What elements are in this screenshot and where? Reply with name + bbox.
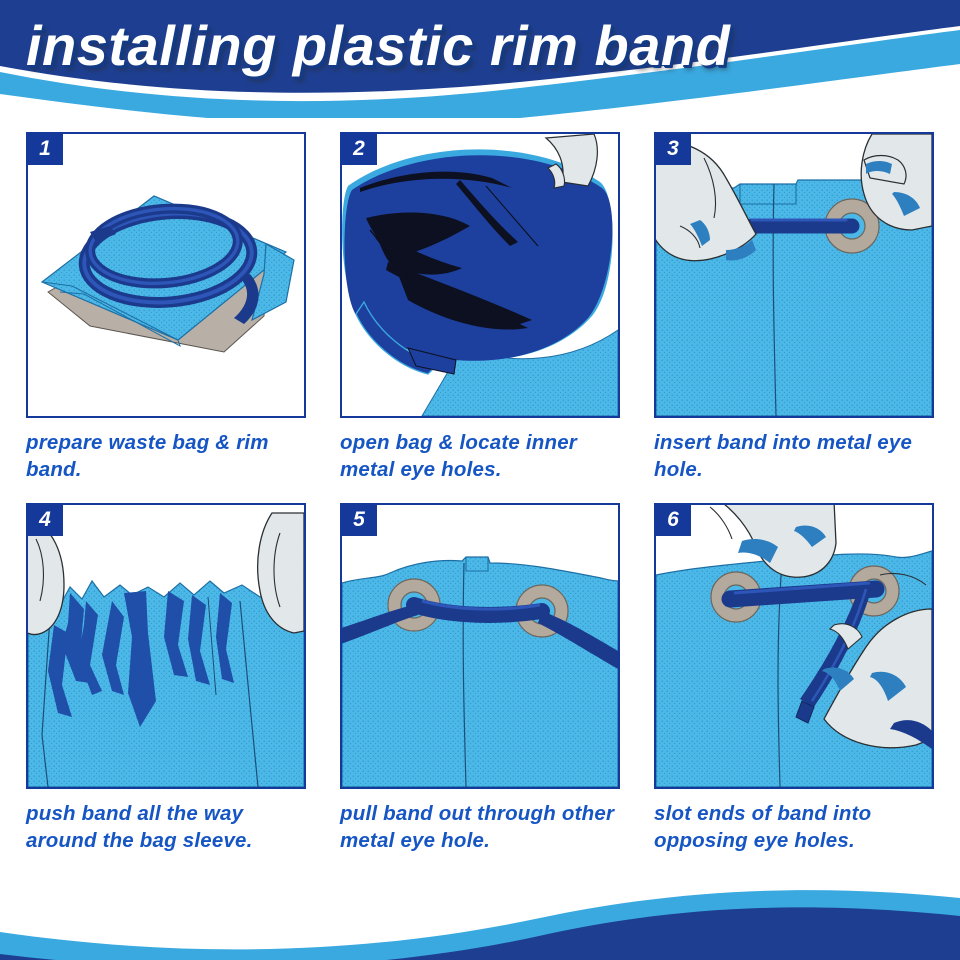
step-6-number: 6	[655, 504, 691, 536]
step-2-number: 2	[341, 133, 377, 165]
step-6-panel: 6	[654, 503, 934, 789]
step-2: 2 open bag & locate inner metal eye hole…	[340, 132, 620, 483]
step-5-number: 5	[341, 504, 377, 536]
footer-wave-graphic	[0, 870, 960, 960]
illustration-folded-waste-bag	[28, 134, 304, 416]
step-3-number: 3	[655, 133, 691, 165]
illustration-open-bag-interior	[342, 134, 618, 416]
step-5-caption: pull band out through other metal eye ho…	[340, 800, 630, 854]
page-header: installing plastic rim band	[0, 0, 960, 118]
illustration-push-band-around-sleeve	[28, 505, 304, 787]
step-1-number: 1	[27, 133, 63, 165]
illustration-pull-band-through-other-eyelet	[342, 505, 618, 787]
step-1: 1 prepare waste bag & rim band.	[26, 132, 306, 483]
illustration-slot-band-ends-into-eyelets	[656, 505, 932, 787]
step-5: 5 pull band out through other metal eye …	[340, 503, 620, 854]
step-4-caption: push band all the way around the bag sle…	[26, 800, 316, 854]
step-4-panel: 4	[26, 503, 306, 789]
step-4: 4 push band all the way around the bag s…	[26, 503, 306, 854]
step-1-panel: 1	[26, 132, 306, 418]
step-3-panel: 3	[654, 132, 934, 418]
steps-grid: 1 prepare waste bag & rim band.	[26, 132, 934, 854]
illustration-insert-band-into-eyelet	[656, 134, 932, 416]
page-footer	[0, 870, 960, 960]
step-3: 3 insert band into metal eye hole.	[654, 132, 934, 483]
step-1-caption: prepare waste bag & rim band.	[26, 429, 316, 483]
page-title: installing plastic rim band	[26, 8, 946, 84]
step-4-number: 4	[27, 504, 63, 536]
step-6: 6 slot ends of band into opposing eye ho…	[654, 503, 934, 854]
step-2-panel: 2	[340, 132, 620, 418]
step-6-caption: slot ends of band into opposing eye hole…	[654, 800, 944, 854]
step-5-panel: 5	[340, 503, 620, 789]
step-2-caption: open bag & locate inner metal eye holes.	[340, 429, 630, 483]
step-3-caption: insert band into metal eye hole.	[654, 429, 944, 483]
